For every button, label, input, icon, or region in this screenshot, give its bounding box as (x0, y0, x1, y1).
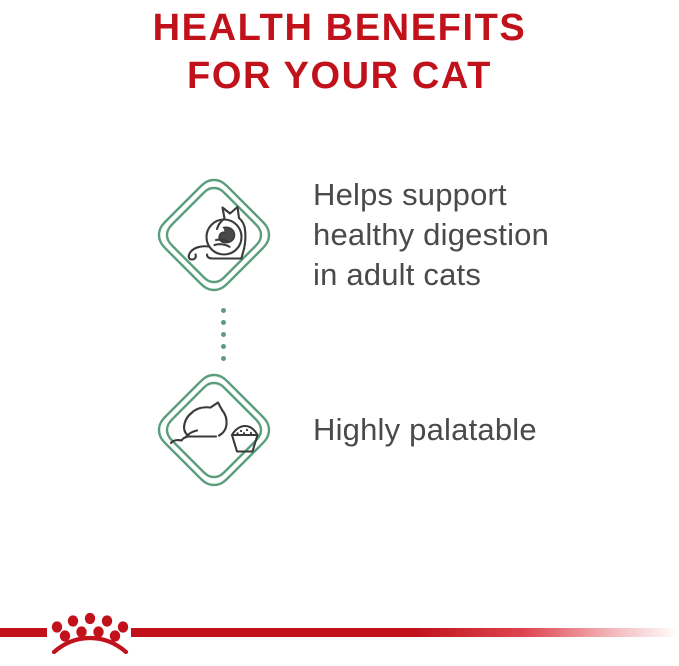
benefit-text-line: Helps support (313, 175, 549, 215)
royal-canin-crown-logo (48, 608, 132, 654)
benefit-text-line: Highly palatable (313, 410, 537, 450)
benefit-text-line: in adult cats (313, 255, 549, 295)
benefits-list: Helps support healthy digestion in adult… (0, 165, 679, 500)
cat-eating-bowl-icon (153, 369, 275, 491)
connector-dot (221, 308, 226, 313)
benefit-item-digestion: Helps support healthy digestion in adult… (0, 165, 679, 305)
product-benefits-panel: { "header": { "title_line_1": "HEALTH BE… (0, 0, 679, 666)
connector-dot (221, 320, 226, 325)
connector-dot (221, 356, 226, 361)
benefit-item-palatable: Highly palatable (0, 360, 679, 500)
benefit-text-line: healthy digestion (313, 215, 549, 255)
benefit-text-digestion: Helps support healthy digestion in adult… (275, 175, 549, 295)
cat-digestion-icon (153, 174, 275, 296)
dotted-connector (221, 308, 227, 366)
connector-dot (221, 344, 226, 349)
brand-bar-left-segment (0, 628, 47, 637)
benefit-icon-cell (0, 369, 275, 491)
page-title-line-2: FOR YOUR CAT (0, 53, 679, 99)
page-title: HEALTH BENEFITS FOR YOUR CAT (0, 0, 679, 99)
brand-bar-right-segment (131, 628, 679, 637)
connector-dot (221, 332, 226, 337)
benefit-text-palatable: Highly palatable (275, 410, 537, 450)
footer-brand-bar (0, 608, 679, 654)
page-title-line-1: HEALTH BENEFITS (0, 5, 679, 51)
benefit-icon-cell (0, 174, 275, 296)
